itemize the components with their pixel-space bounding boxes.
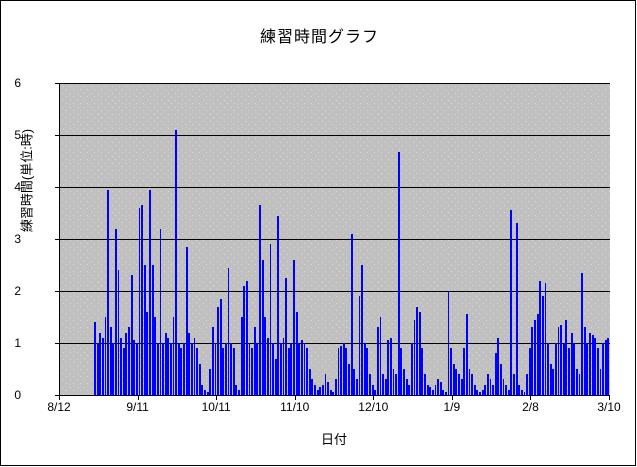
bar xyxy=(188,333,190,395)
bar xyxy=(196,348,198,395)
bar xyxy=(97,343,99,395)
bar xyxy=(99,333,101,395)
bar xyxy=(249,343,251,395)
x-tick-label: 1/9 xyxy=(422,400,482,414)
bar xyxy=(592,335,594,395)
bar xyxy=(377,327,379,395)
bar xyxy=(476,390,478,395)
bar xyxy=(497,338,499,395)
y-tick-label: 0 xyxy=(0,388,21,402)
y-tick-mark xyxy=(55,343,59,344)
bar xyxy=(338,348,340,395)
bar xyxy=(241,317,243,395)
bar xyxy=(235,385,237,395)
bar xyxy=(301,340,303,395)
bar xyxy=(332,392,334,395)
bar xyxy=(545,283,547,395)
bar xyxy=(217,307,219,395)
bar xyxy=(518,385,520,395)
bar xyxy=(471,374,473,395)
bar xyxy=(510,210,512,395)
bar xyxy=(162,343,164,395)
x-tick-mark xyxy=(452,396,453,400)
x-tick-mark xyxy=(609,396,610,400)
bar xyxy=(408,385,410,395)
bar xyxy=(136,343,138,395)
bar xyxy=(180,348,182,395)
bar xyxy=(414,320,416,395)
bar xyxy=(167,338,169,395)
x-tick-label: 9/11 xyxy=(108,400,168,414)
bar xyxy=(466,314,468,395)
bar xyxy=(170,343,172,395)
bar xyxy=(359,296,361,395)
bar xyxy=(387,340,389,395)
bar xyxy=(175,130,177,395)
x-tick-mark xyxy=(216,396,217,400)
bar xyxy=(361,265,363,395)
bar-series xyxy=(60,83,610,395)
bar xyxy=(290,343,292,395)
bar xyxy=(191,343,193,395)
bar xyxy=(495,353,497,395)
bar xyxy=(94,322,96,395)
bar xyxy=(335,379,337,395)
bar xyxy=(500,364,502,395)
bar xyxy=(325,374,327,395)
bar xyxy=(243,286,245,395)
bar xyxy=(133,340,135,395)
y-tick-label: 3 xyxy=(0,232,21,246)
bar xyxy=(238,390,240,395)
plot-area xyxy=(59,83,610,396)
bar xyxy=(395,374,397,395)
y-tick-label: 2 xyxy=(0,284,21,298)
bar xyxy=(442,390,444,395)
bar xyxy=(157,343,159,395)
bar xyxy=(351,234,353,395)
bar xyxy=(186,247,188,395)
bar xyxy=(584,327,586,395)
bar xyxy=(272,343,274,395)
x-tick-label: 8/12 xyxy=(29,400,89,414)
bar xyxy=(529,348,531,395)
x-tick-mark xyxy=(530,396,531,400)
bar xyxy=(437,379,439,395)
bar xyxy=(144,265,146,395)
bar xyxy=(364,343,366,395)
bar xyxy=(547,343,549,395)
bar xyxy=(330,390,332,395)
bar xyxy=(340,346,342,395)
bar xyxy=(204,390,206,395)
bar xyxy=(345,348,347,395)
bar xyxy=(369,374,371,395)
x-tick-label: 2/8 xyxy=(500,400,560,414)
bar xyxy=(220,299,222,395)
bar xyxy=(319,387,321,395)
bar xyxy=(306,348,308,395)
bar xyxy=(222,348,224,395)
bar xyxy=(400,348,402,395)
bar xyxy=(550,364,552,395)
bar xyxy=(209,369,211,395)
bar xyxy=(586,343,588,395)
bar xyxy=(398,152,400,395)
bar xyxy=(372,385,374,395)
bar xyxy=(469,369,471,395)
bar xyxy=(424,374,426,395)
bar xyxy=(374,390,376,395)
bar xyxy=(526,374,528,395)
bar xyxy=(293,260,295,395)
bar xyxy=(309,369,311,395)
bar xyxy=(267,338,269,395)
bar xyxy=(285,278,287,395)
bar xyxy=(463,348,465,395)
bar xyxy=(563,343,565,395)
bar xyxy=(283,338,285,395)
bar xyxy=(262,260,264,395)
bar xyxy=(288,348,290,395)
x-tick-label: 3/10 xyxy=(579,400,637,414)
bar xyxy=(602,343,604,395)
bar xyxy=(605,340,607,395)
bar xyxy=(461,379,463,395)
bar xyxy=(416,307,418,395)
bar xyxy=(565,320,567,395)
y-tick-mark xyxy=(55,83,59,84)
bar xyxy=(427,385,429,395)
y-tick-mark xyxy=(55,187,59,188)
bar xyxy=(212,327,214,395)
bar xyxy=(141,205,143,395)
bar xyxy=(445,392,447,395)
bar xyxy=(327,382,329,395)
bar xyxy=(573,343,575,395)
x-tick-label: 11/10 xyxy=(265,400,325,414)
bar xyxy=(115,229,117,395)
bar xyxy=(225,343,227,395)
bar xyxy=(450,348,452,395)
bar xyxy=(264,317,266,395)
x-tick-mark xyxy=(373,396,374,400)
bar xyxy=(513,374,515,395)
bar xyxy=(600,369,602,395)
bar xyxy=(125,333,127,395)
x-axis-title: 日付 xyxy=(59,429,609,448)
bar xyxy=(524,392,526,395)
bar xyxy=(505,385,507,395)
bar xyxy=(537,314,539,395)
x-tick-label: 12/10 xyxy=(343,400,403,414)
x-tick-mark xyxy=(59,396,60,400)
bar xyxy=(280,343,282,395)
bar xyxy=(107,190,109,395)
bar xyxy=(201,385,203,395)
bar xyxy=(146,312,148,395)
bar xyxy=(594,338,596,395)
chart-frame: 練習時間グラフ 練習時間(単位:時) 日付 01234568/129/1110/… xyxy=(0,0,636,466)
bar xyxy=(455,369,457,395)
y-tick-mark xyxy=(55,291,59,292)
bar xyxy=(539,281,541,395)
bar xyxy=(194,338,196,395)
bar xyxy=(382,374,384,395)
bar xyxy=(353,369,355,395)
bar xyxy=(421,348,423,395)
chart-title: 練習時間グラフ xyxy=(1,23,637,47)
bar xyxy=(348,364,350,395)
bar xyxy=(571,333,573,395)
bar xyxy=(165,333,167,395)
bar xyxy=(429,387,431,395)
bar xyxy=(178,343,180,395)
bar xyxy=(123,348,125,395)
bar xyxy=(581,273,583,395)
bar xyxy=(251,348,253,395)
bar xyxy=(534,320,536,395)
bar xyxy=(385,379,387,395)
y-tick-mark xyxy=(55,135,59,136)
y-tick-label: 1 xyxy=(0,336,21,350)
bar xyxy=(607,338,609,395)
bar xyxy=(275,359,277,395)
bar xyxy=(576,369,578,395)
bar xyxy=(118,270,120,395)
bar xyxy=(435,385,437,395)
bar xyxy=(411,343,413,395)
y-tick-label: 4 xyxy=(0,180,21,194)
bar xyxy=(531,327,533,395)
bar xyxy=(474,385,476,395)
bar xyxy=(228,268,230,395)
bar xyxy=(503,379,505,395)
bar xyxy=(558,327,560,395)
bar xyxy=(254,327,256,395)
bar xyxy=(304,343,306,395)
x-tick-mark xyxy=(138,396,139,400)
bar xyxy=(183,343,185,395)
bar xyxy=(356,379,358,395)
bar xyxy=(110,327,112,395)
y-tick-label: 6 xyxy=(0,76,21,90)
bar xyxy=(215,343,217,395)
x-tick-label: 10/11 xyxy=(186,400,246,414)
bar xyxy=(552,369,554,395)
bar xyxy=(256,343,258,395)
bar xyxy=(366,348,368,395)
bar xyxy=(246,281,248,395)
bar xyxy=(406,379,408,395)
bar xyxy=(149,190,151,395)
bar xyxy=(160,229,162,395)
bar xyxy=(322,385,324,395)
bar xyxy=(207,392,209,395)
bar xyxy=(542,296,544,395)
bar xyxy=(589,333,591,395)
bar xyxy=(597,348,599,395)
bar xyxy=(131,275,133,395)
bar xyxy=(298,343,300,395)
bar xyxy=(555,343,557,395)
bar xyxy=(560,325,562,395)
bar xyxy=(479,392,481,395)
bar xyxy=(120,338,122,395)
bar xyxy=(490,379,492,395)
bar xyxy=(448,291,450,395)
bar xyxy=(259,205,261,395)
bar xyxy=(508,390,510,395)
bar xyxy=(102,338,104,395)
x-tick-mark xyxy=(295,396,296,400)
bar xyxy=(199,364,201,395)
bar xyxy=(484,385,486,395)
bar xyxy=(390,338,392,395)
bar xyxy=(343,343,345,395)
bar xyxy=(579,374,581,395)
bar xyxy=(380,317,382,395)
bar xyxy=(128,327,130,395)
bar xyxy=(139,208,141,395)
y-tick-label: 5 xyxy=(0,128,21,142)
bar xyxy=(516,223,518,395)
bar xyxy=(432,390,434,395)
bar xyxy=(568,348,570,395)
bar xyxy=(419,312,421,395)
bar xyxy=(453,364,455,395)
bar xyxy=(112,343,114,395)
bar xyxy=(393,369,395,395)
bar xyxy=(487,374,489,395)
bar xyxy=(277,216,279,395)
bar xyxy=(233,348,235,395)
bar xyxy=(173,317,175,395)
bar xyxy=(482,390,484,395)
bar xyxy=(154,317,156,395)
bar xyxy=(314,385,316,395)
bar xyxy=(270,244,272,395)
bar xyxy=(521,390,523,395)
bar xyxy=(403,369,405,395)
bar xyxy=(458,374,460,395)
bar xyxy=(317,390,319,395)
bar xyxy=(152,265,154,395)
bar xyxy=(105,317,107,395)
bar xyxy=(296,312,298,395)
bar xyxy=(440,382,442,395)
bar xyxy=(230,343,232,395)
bar xyxy=(311,379,313,395)
bar xyxy=(492,385,494,395)
y-tick-mark xyxy=(55,239,59,240)
